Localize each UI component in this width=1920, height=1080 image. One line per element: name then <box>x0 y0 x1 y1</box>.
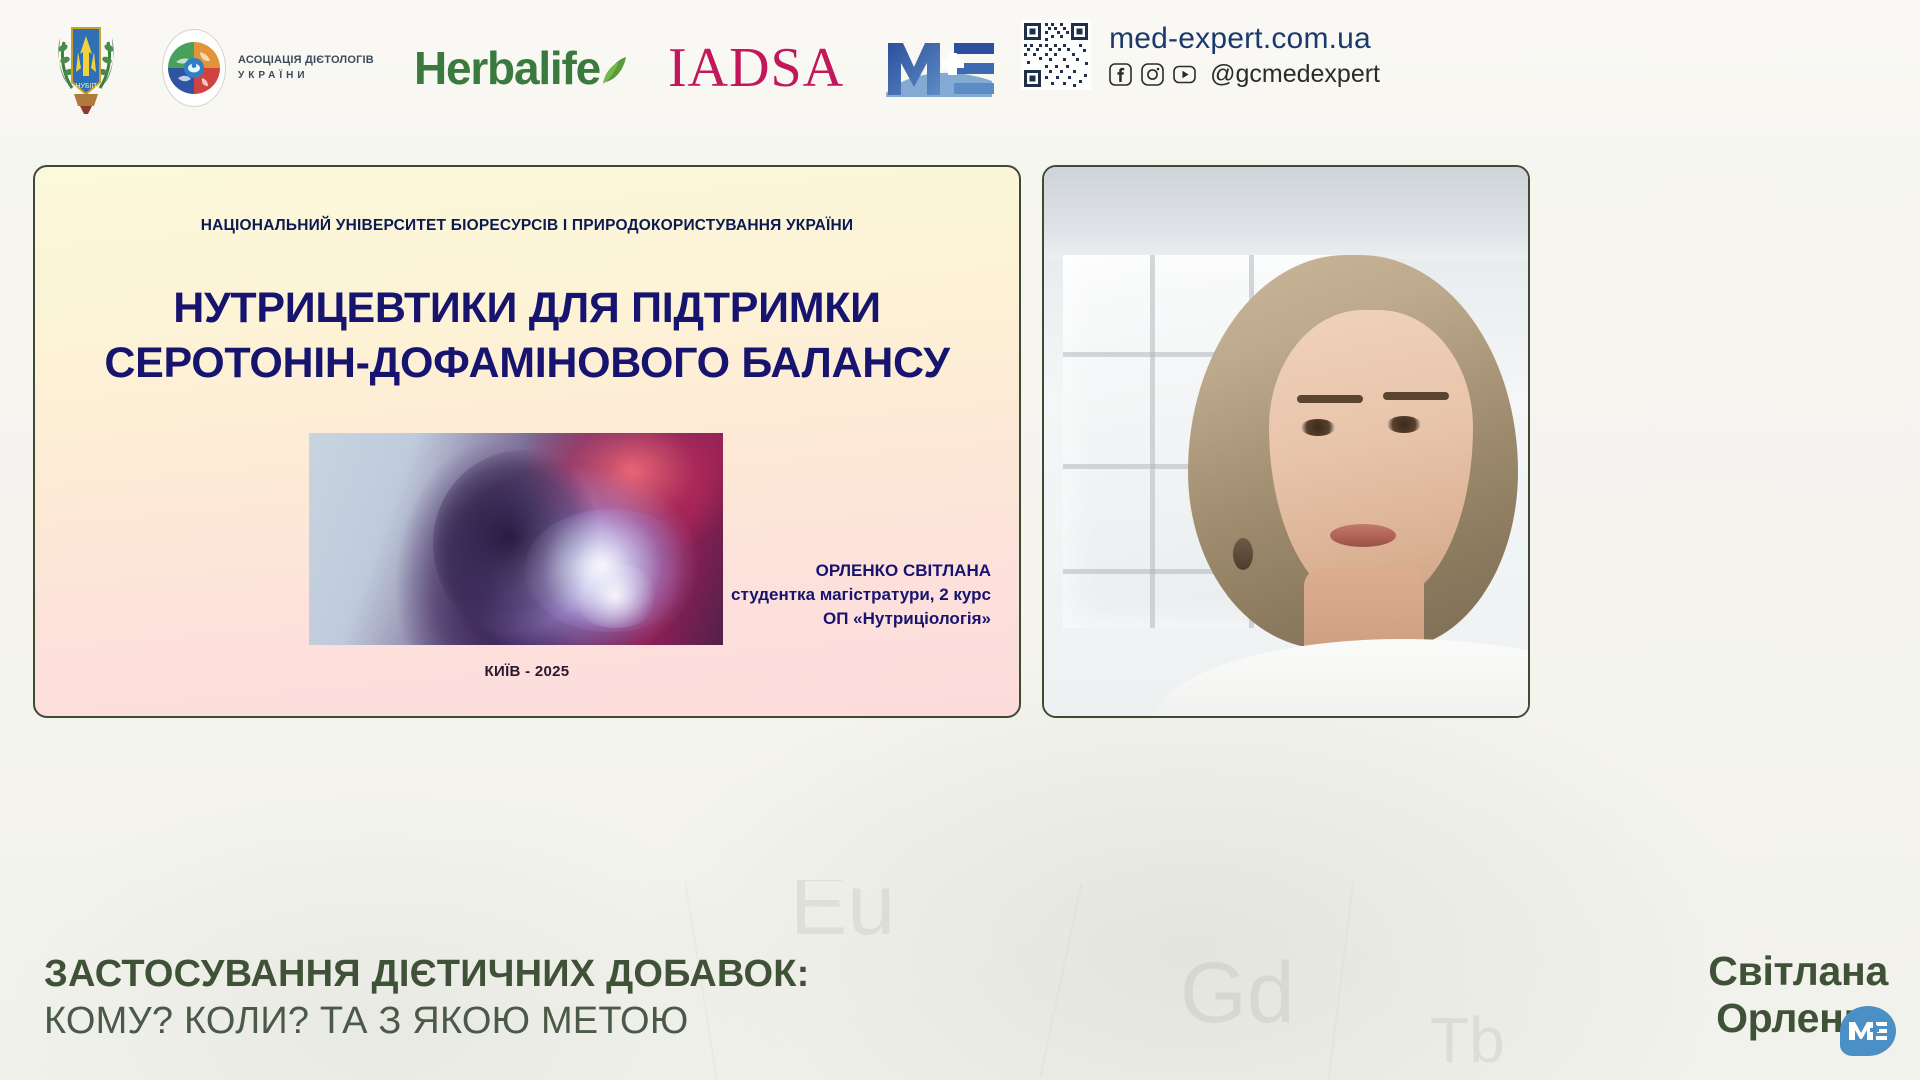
eye-left <box>1301 419 1335 436</box>
shoulders-blouse <box>1153 639 1530 718</box>
dietitians-wheel-icon <box>162 29 226 107</box>
instagram-icon[interactable] <box>1141 63 1164 86</box>
med-expert-logo <box>884 37 996 99</box>
contact-lines: med-expert.com.ua <box>1109 22 1380 89</box>
brain-profile-illustration <box>309 433 723 645</box>
earring <box>1233 538 1253 570</box>
watermark-cell-tb: Tb <box>1430 1008 1505 1072</box>
qr-code-icon[interactable] <box>1021 20 1091 90</box>
eyebrow-right <box>1383 392 1449 400</box>
iadsa-logo: IADSA <box>668 36 844 100</box>
nubip-coat-of-arms-icon: НУБІП <box>50 20 122 116</box>
website-link[interactable]: med-expert.com.ua <box>1109 22 1380 56</box>
speaker-first-name: Світлана <box>1708 948 1888 995</box>
association-of-dietitians-logo: АСОЦІАЦІЯ ДІЄТОЛОГІВ УКРАЇНИ <box>162 29 374 107</box>
association-label-line1: АСОЦІАЦІЯ ДІЄТОЛОГІВ <box>238 53 374 69</box>
herbalife-wordmark: Herbalife <box>414 42 600 94</box>
herbalife-leaf-icon <box>602 43 628 97</box>
slide-title-line1: НУТРИЦЕВТИКИ ДЛЯ ПІДТРИМКИ <box>35 281 1019 336</box>
author-name: ОРЛЕНКО СВІТЛАНА <box>731 559 991 583</box>
slide-title: НУТРИЦЕВТИКИ ДЛЯ ПІДТРИМКИ СЕРОТОНІН-ДОФ… <box>35 281 1019 391</box>
program-title: ЗАСТОСУВАННЯ ДІЄТИЧНИХ ДОБАВОК: КОМУ? КО… <box>44 952 1074 1046</box>
med-expert-badge-icon <box>1840 1006 1896 1056</box>
slide-title-line2: СЕРОТОНІН-ДОФАМІНОВОГО БАЛАНСУ <box>35 336 1019 391</box>
presenter-video-feed[interactable] <box>1042 165 1530 718</box>
author-block: ОРЛЕНКО СВІТЛАНА студентка магістратури,… <box>731 559 991 631</box>
eyebrow-left <box>1297 395 1363 403</box>
association-label-line2: УКРАЇНИ <box>238 69 374 84</box>
facebook-icon[interactable] <box>1109 63 1132 86</box>
header-bar: НУБІП <box>0 0 1920 140</box>
lips <box>1330 524 1396 547</box>
program-title-line1: ЗАСТОСУВАННЯ ДІЄТИЧНИХ ДОБАВОК: <box>44 952 1074 997</box>
speaker-nameplate: Світлана Орленко <box>1708 948 1888 1041</box>
presentation-slide[interactable]: НАЦІОНАЛЬНИЙ УНІВЕРСИТЕТ БІОРЕСУРСІВ І П… <box>33 165 1021 718</box>
eye-right <box>1387 416 1421 433</box>
watermark-line <box>1328 881 1354 1080</box>
presenter <box>1180 255 1530 718</box>
watermark-cell-gd: Gd <box>1180 950 1295 1036</box>
sponsor-logo-row: НУБІП <box>50 18 996 118</box>
broadcast-screen: Eu Gd Tb <box>0 0 1920 1080</box>
social-handle[interactable]: @gcmedexpert <box>1210 60 1380 89</box>
svg-text:НУБІП: НУБІП <box>75 83 96 90</box>
herbalife-logo: Herbalife <box>414 41 628 95</box>
brain-network-glow-secondary <box>570 564 661 628</box>
city-year: КИЇВ - 2025 <box>35 663 1019 680</box>
author-role: студентка магістратури, 2 курс <box>731 583 991 607</box>
author-program: ОП «Нутриціологія» <box>731 607 991 631</box>
ceiling <box>1044 167 1528 259</box>
youtube-icon[interactable] <box>1173 63 1196 86</box>
university-name: НАЦІОНАЛЬНИЙ УНІВЕРСИТЕТ БІОРЕСУРСІВ І П… <box>35 217 1019 235</box>
contact-block: med-expert.com.ua <box>1021 20 1380 90</box>
watermark-cell-eu: Eu <box>790 880 895 948</box>
social-row: @gcmedexpert <box>1109 60 1380 89</box>
program-title-line2: КОМУ? КОЛИ? ТА З ЯКОЮ МЕТОЮ <box>44 997 1074 1046</box>
association-label: АСОЦІАЦІЯ ДІЄТОЛОГІВ УКРАЇНИ <box>238 53 374 83</box>
